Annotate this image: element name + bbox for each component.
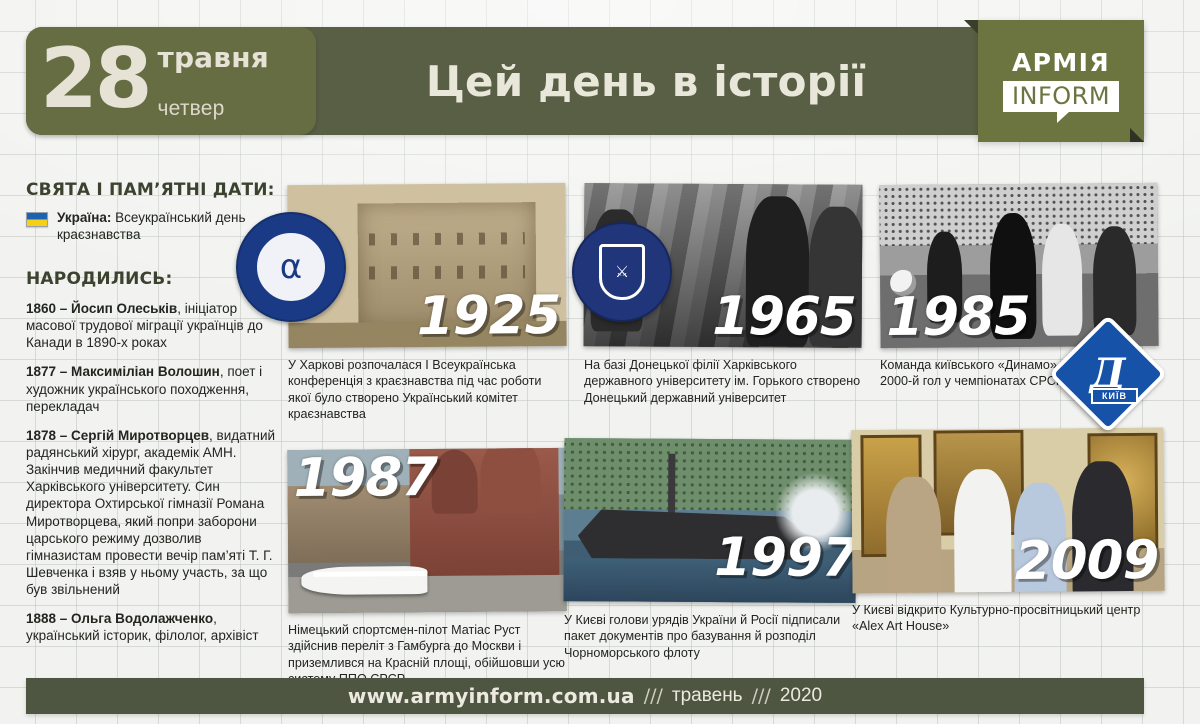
donetsk-university-emblem-icon: ⚔	[572, 222, 672, 322]
card-photo: 1997	[564, 438, 857, 603]
history-card[interactable]: 1925 ⍺ У Харкові розпочалася І Всеукраїн…	[288, 184, 566, 422]
birth-name: Максиміліан Волошин	[71, 364, 220, 379]
birth-year: 1878 –	[26, 428, 71, 443]
page-header: 28 травня четвер Цей день в історії АРМІ…	[0, 0, 1200, 160]
card-caption: У Києві відкрито Культурно-просвітницьки…	[852, 602, 1164, 635]
dynamo-kyiv-label: КИЇВ	[1091, 388, 1138, 404]
history-card[interactable]: 1997 У Києві голови урядів України й Рос…	[564, 439, 856, 661]
logo-fold-top-left-icon	[964, 20, 978, 34]
history-card[interactable]: 2009 У Києві відкрито Культурно-просвітн…	[852, 429, 1164, 635]
history-card[interactable]: 1987 Німецький спортсмен-пілот Матіас Ру…	[288, 449, 566, 687]
logo-top-text: АРМІЯ	[1012, 50, 1110, 75]
birth-name: Йосип Олеськів	[71, 301, 177, 316]
history-card[interactable]: 1965 ⚔ На базі Донецької філії Харківськ…	[584, 184, 862, 406]
ukraine-flag-icon	[26, 212, 48, 227]
birth-description: , видатний радянський хірург, академік А…	[26, 428, 275, 597]
birth-entry: 1878 – Сергій Миротворцев, видатний радя…	[26, 427, 278, 598]
footer-separator: ///	[752, 685, 771, 707]
date-day: 28	[40, 45, 150, 113]
logo-bottom-text: INFORM	[1012, 84, 1110, 108]
birth-name: Ольга Водолажченко	[71, 611, 213, 626]
page-title: Цей день в історії	[316, 27, 976, 135]
footer-separator: ///	[644, 685, 663, 707]
holiday-country: Україна:	[57, 210, 111, 225]
card-caption: У Харкові розпочалася І Всеукраїнська ко…	[288, 357, 566, 422]
birth-year: 1877 –	[26, 364, 71, 379]
history-card[interactable]: 1985 Д КИЇВ Команда київського «Динамо» …	[880, 184, 1158, 390]
birth-entry: 1888 – Ольга Водолажченко, український і…	[26, 610, 278, 644]
card-year: 1997	[714, 531, 856, 585]
birth-year: 1860 –	[26, 301, 71, 316]
card-photo: 2009	[851, 428, 1164, 593]
card-year: 1985	[886, 290, 1030, 344]
logo-speech-bubble-icon: INFORM	[1003, 81, 1119, 112]
birth-year: 1888 –	[26, 611, 71, 626]
card-caption: На базі Донецької філії Харківського дер…	[584, 357, 862, 406]
page-footer: www.armyinform.com.ua /// травень /// 20…	[26, 678, 1144, 714]
card-year: 2009	[1015, 534, 1159, 588]
card-photo: 1987	[287, 448, 566, 613]
card-caption: У Києві голови урядів України й Росії пі…	[564, 612, 856, 661]
date-month: травня	[158, 44, 269, 72]
birth-entry: 1860 – Йосип Олеськів, ініціатор масової…	[26, 300, 278, 351]
footer-year: 2020	[780, 685, 822, 707]
logo-fold-bottom-right-icon	[1130, 128, 1144, 142]
date-box: 28 травня четвер	[26, 27, 316, 135]
kraeznavstvo-emblem-icon: ⍺	[236, 212, 346, 322]
armyinform-logo[interactable]: АРМІЯ INFORM	[978, 20, 1144, 142]
card-year: 1987	[293, 451, 437, 505]
holiday-item: Україна: Всеукраїнський день краєзнавств…	[26, 209, 278, 243]
date-weekday: четвер	[158, 98, 269, 119]
card-year: 1925	[417, 289, 561, 343]
birth-name: Сергій Миротворцев	[71, 428, 209, 443]
footer-month: травень	[672, 685, 743, 707]
holidays-heading: СВЯТА І ПАМ’ЯТНІ ДАТИ:	[26, 180, 278, 200]
website-url[interactable]: www.armyinform.com.ua	[348, 684, 635, 708]
date-labels: травня четвер	[158, 39, 269, 123]
birth-entry: 1877 – Максиміліан Волошин, поет і худож…	[26, 363, 278, 414]
card-year: 1965	[712, 290, 856, 344]
